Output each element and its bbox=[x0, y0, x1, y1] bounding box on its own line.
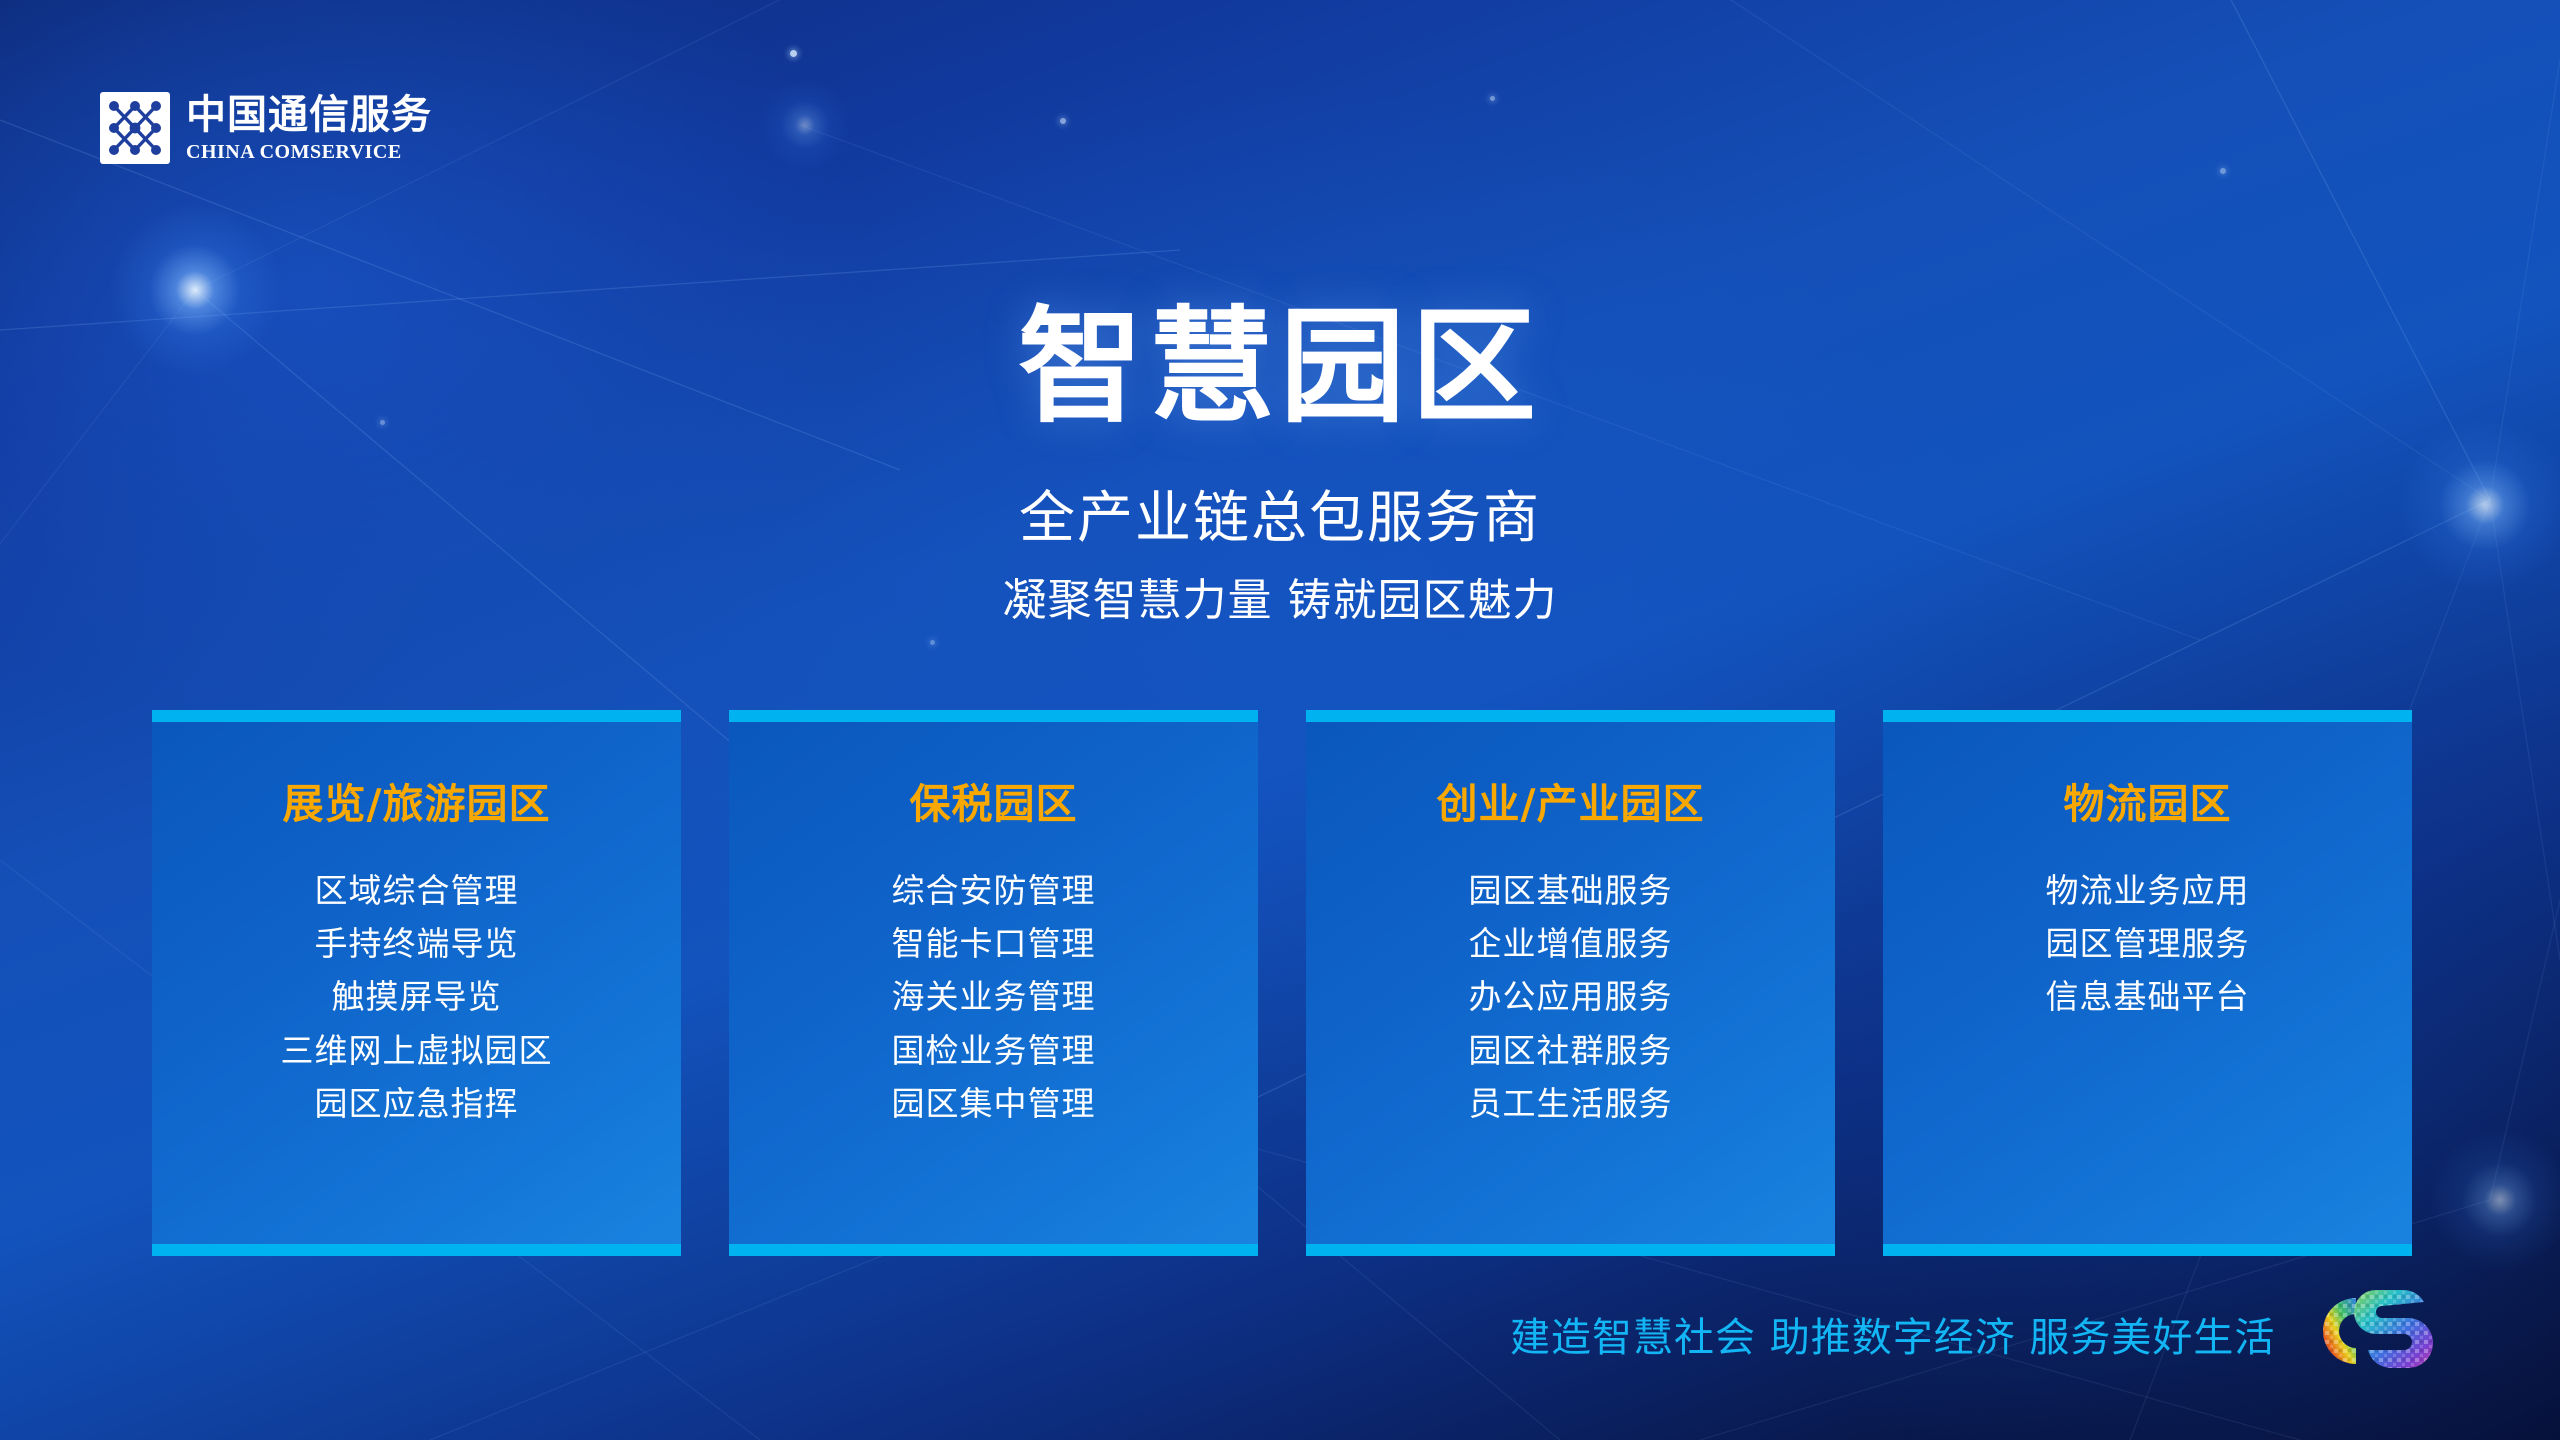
card-body: 创业/产业园区 园区基础服务 企业增值服务 办公应用服务 园区社群服务 员工生活… bbox=[1306, 722, 1835, 1244]
list-item[interactable]: 园区管理服务 bbox=[2046, 923, 2250, 965]
category-card-bonded-zone[interactable]: 保税园区 综合安防管理 智能卡口管理 海关业务管理 国检业务管理 园区集中管理 bbox=[729, 710, 1258, 1256]
category-card-exhibition-tourism[interactable]: 展览/旅游园区 区域综合管理 手持终端导览 触摸屏导览 三维网上虚拟园区 园区应… bbox=[152, 710, 681, 1256]
glow-node-lower-right bbox=[2430, 1130, 2560, 1270]
card-body: 保税园区 综合安防管理 智能卡口管理 海关业务管理 国检业务管理 园区集中管理 bbox=[729, 722, 1258, 1244]
brand-logo: 中国通信服务 CHINA COMSERVICE bbox=[100, 92, 432, 164]
list-item[interactable]: 物流业务应用 bbox=[2046, 870, 2250, 912]
card-body: 物流园区 物流业务应用 园区管理服务 信息基础平台 bbox=[1883, 722, 2412, 1244]
star-dot bbox=[1060, 118, 1066, 124]
hero-subtitle-primary: 全产业链总包服务商 bbox=[0, 473, 2560, 554]
category-card-logistics[interactable]: 物流园区 物流业务应用 园区管理服务 信息基础平台 bbox=[1883, 710, 2412, 1256]
list-item[interactable]: 园区应急指挥 bbox=[315, 1083, 519, 1125]
list-item[interactable]: 信息基础平台 bbox=[2046, 976, 2250, 1018]
category-card-startup-industrial[interactable]: 创业/产业园区 园区基础服务 企业增值服务 办公应用服务 园区社群服务 员工生活… bbox=[1306, 710, 1835, 1256]
star-dot bbox=[2220, 168, 2226, 174]
list-item[interactable]: 三维网上虚拟园区 bbox=[281, 1030, 553, 1072]
card-item-list: 物流业务应用 园区管理服务 信息基础平台 bbox=[2046, 870, 2250, 1019]
star-dot bbox=[930, 640, 935, 645]
list-item[interactable]: 企业增值服务 bbox=[1469, 923, 1673, 965]
list-item[interactable]: 智能卡口管理 bbox=[892, 923, 1096, 965]
card-top-accent-bar bbox=[729, 710, 1258, 722]
brand-name-cn: 中国通信服务 bbox=[186, 95, 432, 135]
slide-canvas: 中国通信服务 CHINA COMSERVICE 智慧园区 全产业链总包服务商 凝… bbox=[0, 0, 2560, 1440]
card-bottom-accent-bar bbox=[1306, 1244, 1835, 1256]
brand-name-en: CHINA COMSERVICE bbox=[186, 142, 432, 162]
category-card-row: 展览/旅游园区 区域综合管理 手持终端导览 触摸屏导览 三维网上虚拟园区 园区应… bbox=[152, 710, 2412, 1256]
list-item[interactable]: 园区社群服务 bbox=[1469, 1030, 1673, 1072]
card-title: 创业/产业园区 bbox=[1437, 770, 1705, 830]
list-item[interactable]: 综合安防管理 bbox=[892, 870, 1096, 912]
card-item-list: 园区基础服务 企业增值服务 办公应用服务 园区社群服务 员工生活服务 bbox=[1469, 870, 1673, 1125]
card-top-accent-bar bbox=[1883, 710, 2412, 722]
card-top-accent-bar bbox=[1306, 710, 1835, 722]
card-bottom-accent-bar bbox=[152, 1244, 681, 1256]
ccs-lattice-logo-icon bbox=[100, 92, 170, 164]
list-item[interactable]: 触摸屏导览 bbox=[332, 976, 502, 1018]
glow-node-upper-center bbox=[760, 80, 850, 170]
list-item[interactable]: 区域综合管理 bbox=[315, 870, 519, 912]
cs-cloud-mosaic-logo-icon bbox=[2298, 1268, 2458, 1388]
hero-subtitle-secondary: 凝聚智慧力量 铸就园区魅力 bbox=[0, 564, 2560, 628]
footer-slogan: 建造智慧社会 助推数字经济 服务美好生活 bbox=[1510, 1305, 2275, 1363]
brand-wordmark: 中国通信服务 CHINA COMSERVICE bbox=[186, 95, 432, 162]
star-dot bbox=[1490, 96, 1495, 101]
card-bottom-accent-bar bbox=[729, 1244, 1258, 1256]
card-title: 保税园区 bbox=[910, 770, 1078, 830]
list-item[interactable]: 手持终端导览 bbox=[315, 923, 519, 965]
hero-block: 智慧园区 全产业链总包服务商 凝聚智慧力量 铸就园区魅力 bbox=[0, 300, 2560, 628]
card-title: 物流园区 bbox=[2064, 770, 2232, 830]
card-item-list: 综合安防管理 智能卡口管理 海关业务管理 国检业务管理 园区集中管理 bbox=[892, 870, 1096, 1125]
card-top-accent-bar bbox=[152, 710, 681, 722]
list-item[interactable]: 员工生活服务 bbox=[1469, 1083, 1673, 1125]
list-item[interactable]: 园区基础服务 bbox=[1469, 870, 1673, 912]
list-item[interactable]: 办公应用服务 bbox=[1469, 976, 1673, 1018]
card-body: 展览/旅游园区 区域综合管理 手持终端导览 触摸屏导览 三维网上虚拟园区 园区应… bbox=[152, 722, 681, 1244]
list-item[interactable]: 国检业务管理 bbox=[892, 1030, 1096, 1072]
list-item[interactable]: 园区集中管理 bbox=[892, 1083, 1096, 1125]
card-item-list: 区域综合管理 手持终端导览 触摸屏导览 三维网上虚拟园区 园区应急指挥 bbox=[281, 870, 553, 1125]
card-title: 展览/旅游园区 bbox=[283, 770, 551, 830]
star-dot bbox=[790, 50, 797, 57]
list-item[interactable]: 海关业务管理 bbox=[892, 976, 1096, 1018]
card-bottom-accent-bar bbox=[1883, 1244, 2412, 1256]
page-title: 智慧园区 bbox=[0, 300, 2560, 435]
